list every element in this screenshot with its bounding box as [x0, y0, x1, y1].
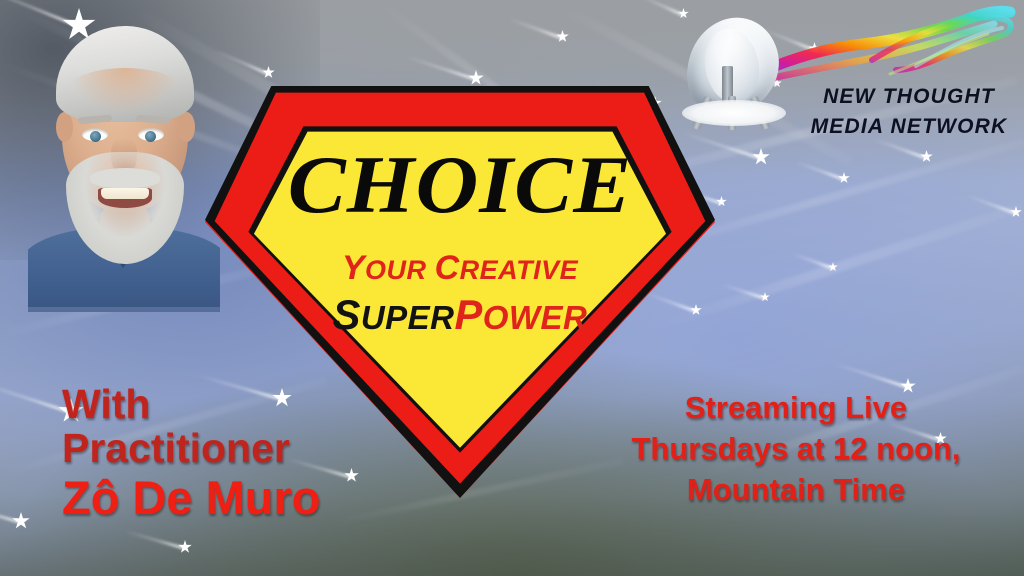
schedule-line2: Thursdays at 12 noon,	[586, 429, 1006, 470]
portrait-ear-right	[178, 112, 195, 142]
tagline-line-1: YOUR CREATIVE	[205, 249, 715, 288]
tagline-your-rest: OUR	[365, 255, 427, 285]
portrait-mustache	[90, 168, 160, 188]
schedule-line1: Streaming Live	[586, 388, 1006, 429]
host-caption: With Practitioner Zô De Muro	[62, 382, 320, 523]
portrait-iris-left	[90, 131, 101, 142]
tagline-creative-rest: REATIVE	[460, 255, 579, 285]
poster-canvas: NEW THOUGHT MEDIA NETWORK CHOICE YOUR CR…	[0, 0, 1024, 576]
portrait-iris-right	[145, 131, 156, 142]
tagline-power-rest: OWER	[483, 299, 588, 336]
portrait-teeth	[101, 188, 149, 199]
portrait-mouth	[98, 188, 152, 208]
tagline-power-initial: P	[455, 291, 483, 338]
host-caption-line2: Practitioner	[62, 425, 290, 471]
network-name-line1: NEW THOUGHT	[804, 82, 1014, 112]
host-name: Zô De Muro	[62, 473, 320, 524]
network-name-line2: MEDIA NETWORK	[804, 112, 1014, 142]
network-logo: NEW THOUGHT MEDIA NETWORK	[676, 4, 1024, 164]
show-title: CHOICE	[190, 144, 731, 226]
network-name: NEW THOUGHT MEDIA NETWORK	[804, 82, 1014, 142]
host-caption-line1: With	[62, 381, 150, 427]
tagline-super-rest: UPER	[361, 299, 455, 336]
portrait-bottom-edge	[28, 307, 220, 312]
schedule-caption: Streaming Live Thursdays at 12 noon, Mou…	[586, 388, 1006, 511]
tagline-creative-initial: C	[435, 249, 460, 287]
portrait-ear-left	[56, 112, 73, 142]
tagline-super-initial: S	[333, 291, 361, 338]
tagline-line-2: SUPERPOWER	[205, 291, 715, 339]
tagline-your-initial: Y	[342, 249, 365, 287]
schedule-line3: Mountain Time	[586, 470, 1006, 511]
